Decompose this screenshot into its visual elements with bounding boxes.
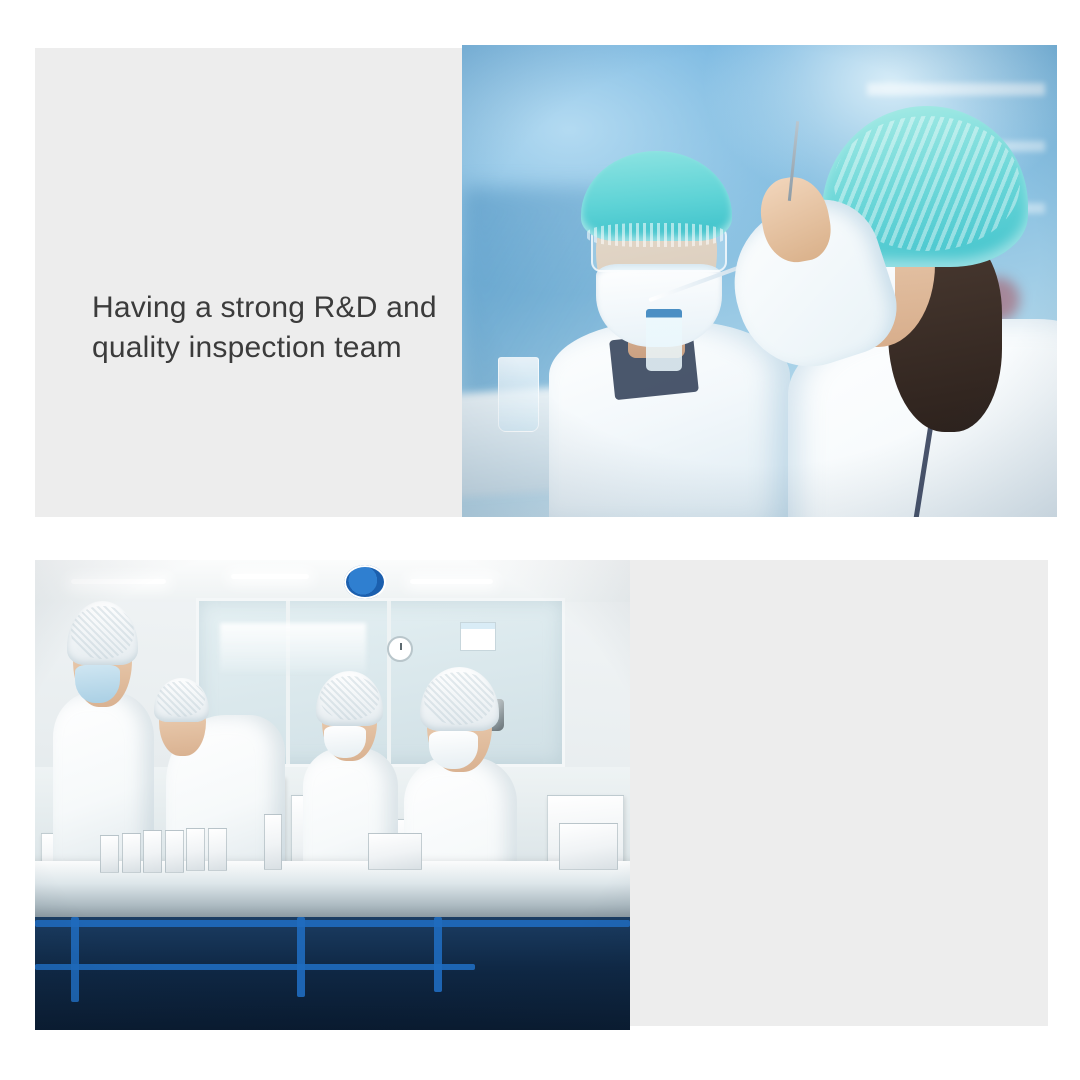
warehouse-caption-panel: a warehouse distribution area a warehous… — [630, 560, 1048, 1026]
warehouse-packing-photo — [35, 560, 630, 1030]
rd-caption-line-2: quality inspection team — [92, 328, 492, 368]
rd-caption-line-1: Having a strong R&D and — [92, 288, 492, 328]
rd-caption-panel: Having a strong R&D and quality inspecti… — [35, 48, 465, 517]
lab-vignette — [462, 45, 1057, 517]
lab-scene — [462, 45, 1057, 517]
warehouse-vignette — [35, 560, 630, 1030]
poster-page: Having a strong R&D and quality inspecti… — [0, 0, 1080, 1080]
lab-inspection-photo — [462, 45, 1057, 517]
warehouse-scene — [35, 560, 630, 1030]
rd-caption-text: Having a strong R&D and quality inspecti… — [92, 288, 492, 368]
